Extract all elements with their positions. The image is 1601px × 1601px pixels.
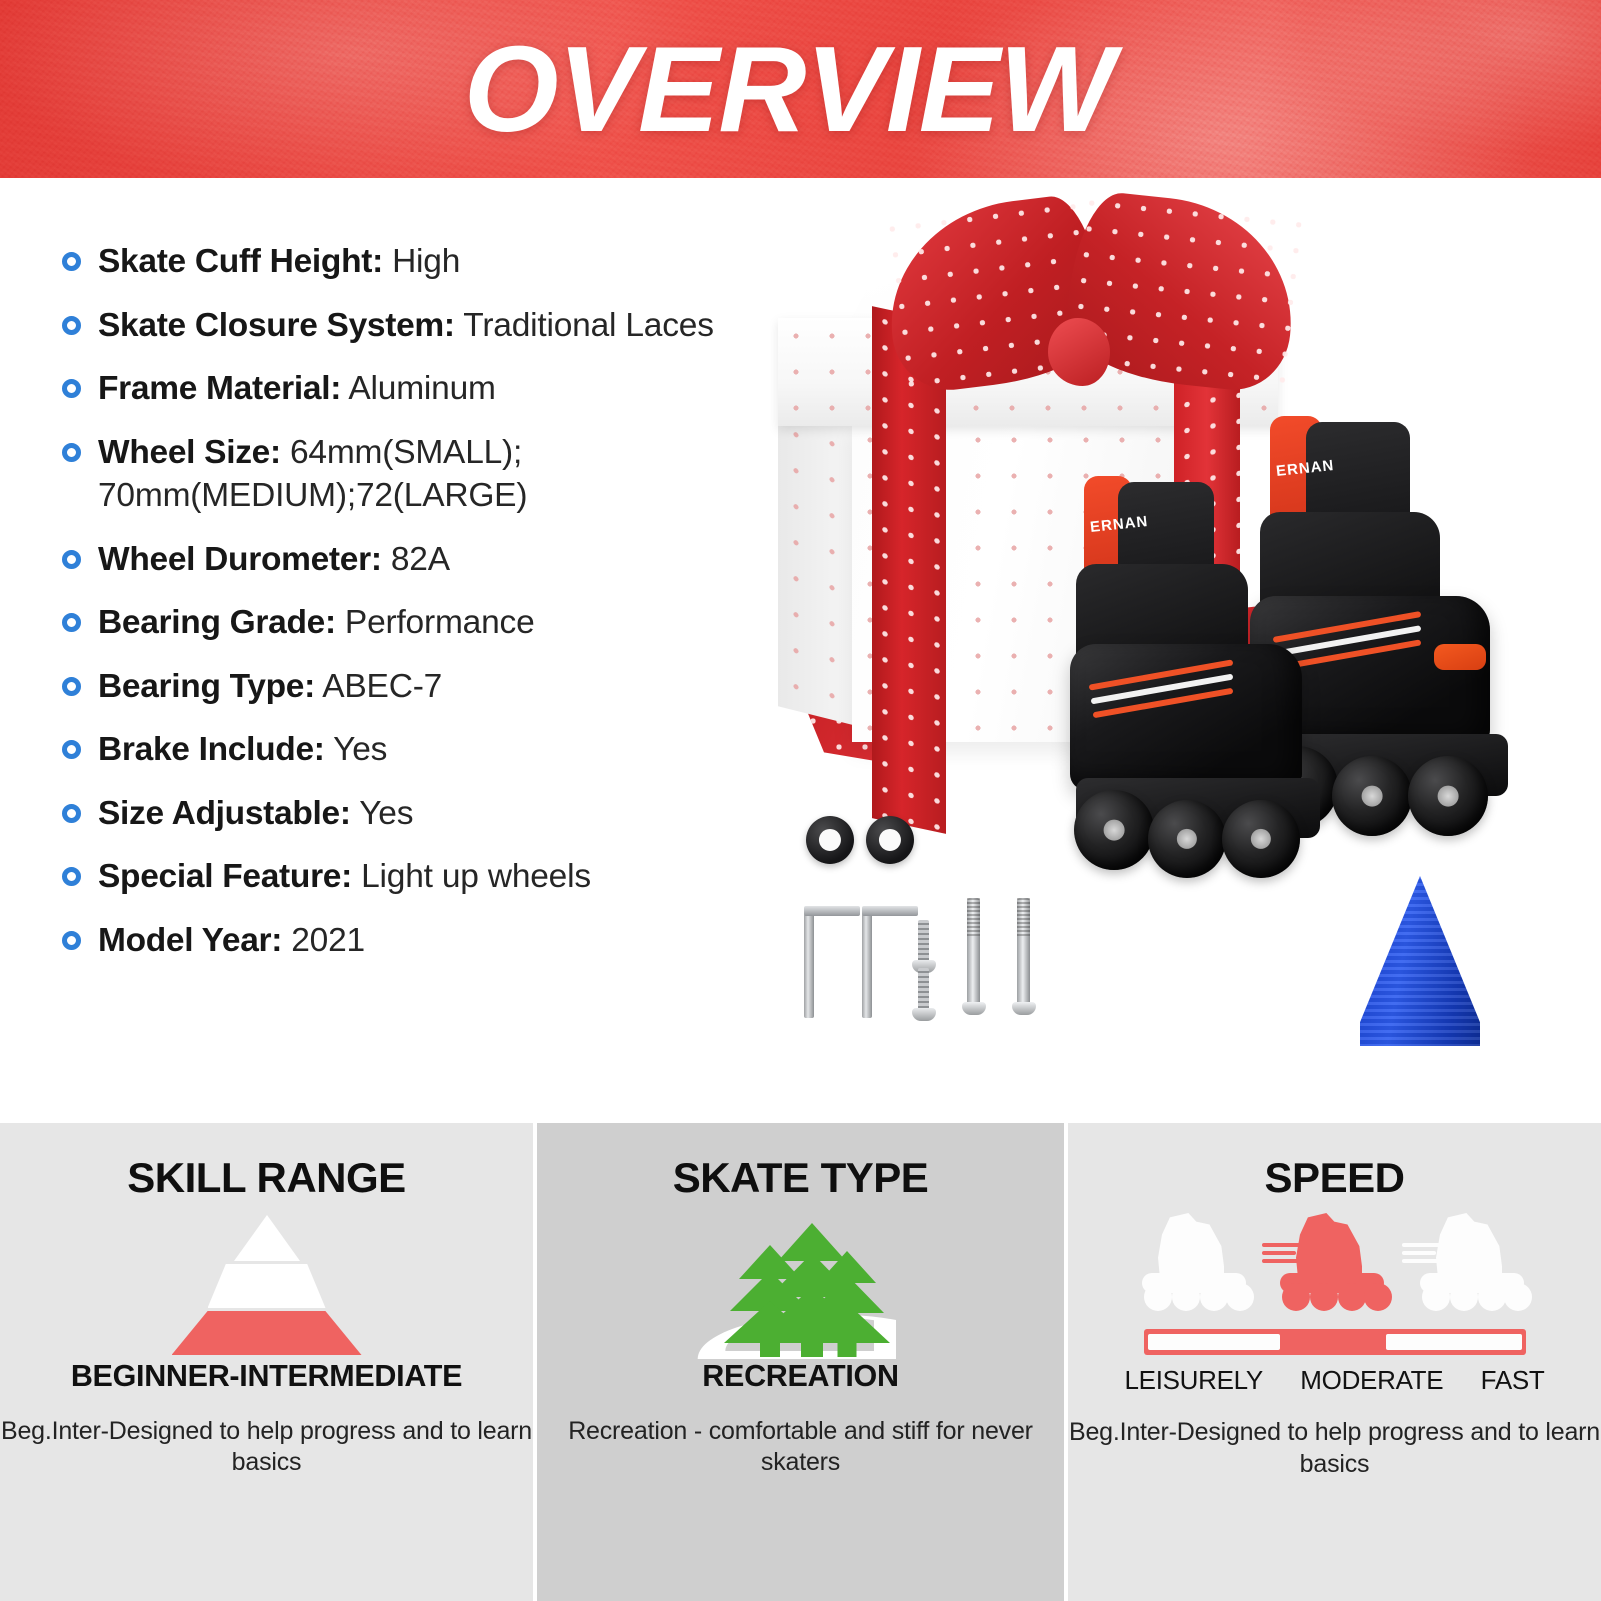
skate-speed-icon [1068, 1207, 1601, 1325]
bullet-icon [62, 931, 81, 950]
spec-label: Bearing Type: [98, 668, 315, 705]
spec-label: Skate Cuff Height: [98, 243, 383, 280]
speed-segment-leisurely[interactable] [1148, 1334, 1280, 1350]
spec-label: Model Year: [98, 922, 282, 959]
page-title: OVERVIEW [0, 28, 1601, 150]
list-item: Size Adjustable: Yes [62, 792, 762, 836]
list-item: Bearing Grade: Performance [62, 601, 762, 645]
spec-list: Skate Cuff Height: High Skate Closure Sy… [62, 240, 762, 983]
speed-label-fast: FAST [1481, 1365, 1545, 1396]
list-item: Brake Include: Yes [62, 728, 762, 772]
header-banner: OVERVIEW [0, 0, 1601, 178]
skate-icon-fast [1408, 1213, 1536, 1317]
pyramid-tier-top [234, 1215, 300, 1261]
list-item: Model Year: 2021 [62, 919, 762, 963]
list-item: Wheel Size: 64mm(SMALL); 70mm(MEDIUM);72… [62, 431, 762, 518]
bow-knot [1048, 318, 1110, 386]
spec-label: Frame Material: [98, 370, 341, 407]
panel-description: Beg.Inter-Designed to help progress and … [0, 1416, 533, 1479]
bullet-icon [62, 550, 81, 569]
spec-label: Special Feature: [98, 858, 352, 895]
speed-progress-bar[interactable] [1144, 1329, 1526, 1355]
speed-segment-moderate[interactable] [1280, 1334, 1386, 1350]
panel-skate-type: SKATE TYPE [533, 1123, 1068, 1601]
bullet-icon [62, 252, 81, 271]
spec-value: High [392, 243, 460, 280]
bullet-icon [62, 677, 81, 696]
spec-label: Skate Closure System: [98, 307, 455, 344]
spec-value: 82A [391, 541, 450, 578]
panel-value: RECREATION [537, 1361, 1064, 1392]
tree-center [762, 1223, 862, 1357]
bullet-icon [62, 443, 81, 462]
spec-label: Size Adjustable: [98, 795, 351, 832]
spec-value: Light up wheels [361, 858, 591, 895]
inline-skates-icon: ERNAN ERNAN [1070, 416, 1600, 1096]
pyramid-tier-bottom [172, 1311, 362, 1355]
panel-value: BEGINNER-INTERMEDIATE [0, 1361, 533, 1392]
pyramid-icon [0, 1207, 533, 1357]
bullet-icon [62, 613, 81, 632]
list-item: Skate Closure System: Traditional Laces [62, 304, 762, 348]
spec-label: Bearing Grade: [98, 604, 336, 641]
bullet-icon [62, 740, 81, 759]
list-item: Bearing Type: ABEC-7 [62, 665, 762, 709]
bullet-icon [62, 867, 81, 886]
spec-value: ABEC-7 [322, 668, 442, 705]
speed-labels: LEISURELY MODERATE FAST [1125, 1365, 1545, 1396]
panel-description: Beg.Inter-Designed to help progress and … [1068, 1417, 1601, 1480]
pyramid-tier-middle [208, 1264, 326, 1308]
spec-value: Yes [359, 795, 413, 832]
list-item: Frame Material: Aluminum [62, 367, 762, 411]
panel-skill-range: SKILL RANGE BEGINNER-INTERMEDIATE Beg.In… [0, 1123, 533, 1601]
skate-icon-moderate [1268, 1213, 1396, 1317]
gift-box-side [778, 376, 856, 725]
spec-value: Aluminum [348, 370, 495, 407]
spacer-icon [806, 816, 854, 864]
pine-trees-icon [537, 1207, 1064, 1357]
accessories-group [790, 816, 1070, 1076]
speed-label-leisurely: LEISURELY [1125, 1365, 1263, 1396]
spec-value: Yes [333, 731, 387, 768]
speed-segment-fast[interactable] [1386, 1334, 1522, 1350]
list-item: Skate Cuff Height: High [62, 240, 762, 284]
panel-speed: SPEED [1068, 1123, 1601, 1601]
training-cone-icon [1360, 876, 1480, 1046]
spacer-icon [866, 816, 914, 864]
panel-title: SKILL RANGE [0, 1157, 533, 1199]
feature-panels: SKILL RANGE BEGINNER-INTERMEDIATE Beg.In… [0, 1123, 1601, 1601]
panel-title: SKATE TYPE [537, 1157, 1064, 1199]
spec-label: Wheel Size: [98, 434, 281, 471]
bullet-icon [62, 804, 81, 823]
spec-value: Performance [345, 604, 535, 641]
bullet-icon [62, 316, 81, 335]
skate-icon-leisurely [1130, 1213, 1258, 1317]
list-item: Wheel Durometer: 82A [62, 538, 762, 582]
speed-label-moderate: MODERATE [1300, 1365, 1443, 1396]
spec-value: Traditional Laces [463, 307, 713, 344]
spec-label: Wheel Durometer: [98, 541, 382, 578]
bullet-icon [62, 379, 81, 398]
panel-description: Recreation - comfortable and stiff for n… [537, 1416, 1064, 1479]
panel-title: SPEED [1068, 1157, 1601, 1199]
infographic-page: OVERVIEW Skate Cuff Height: High Skate C… [0, 0, 1601, 1601]
product-photo: ERNAN ERNAN [770, 186, 1601, 1116]
list-item: Special Feature: Light up wheels [62, 855, 762, 899]
spec-value: 2021 [291, 922, 365, 959]
spec-label: Brake Include: [98, 731, 325, 768]
